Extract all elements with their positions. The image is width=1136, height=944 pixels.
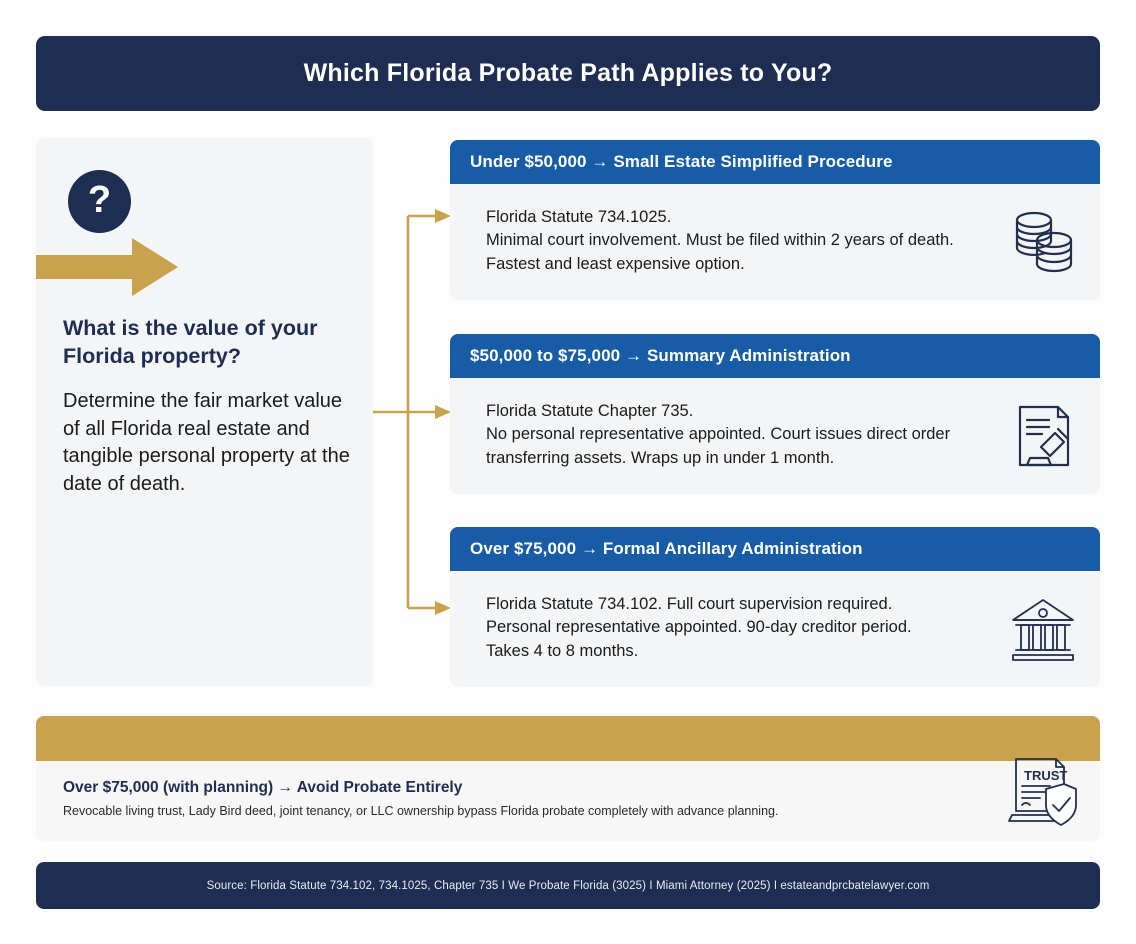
infographic-page: Which Florida Probate Path Applies to Yo… [0, 0, 1136, 944]
path-card-formal-ancillary[interactable]: Over $75,000 → Formal Ancillary Administ… [450, 527, 1100, 687]
card-body-text: Florida Statute 734.102. Full court supe… [486, 593, 990, 663]
card-header: Under $50,000 → Small Estate Simplified … [450, 140, 1100, 184]
connector-lines [373, 138, 453, 686]
card-header-label: $50,000 to $75,000 → Summary Administrat… [470, 346, 851, 366]
page-title: Which Florida Probate Path Applies to Yo… [304, 59, 833, 88]
trust-document-shield-icon: TRUST [1006, 753, 1078, 829]
card-body-text: Florida Statute Chapter 735. No personal… [486, 400, 990, 470]
trust-label: TRUST [1024, 768, 1067, 783]
document-gavel-icon [1008, 401, 1078, 471]
card-body: Florida Statute 734.1025. Minimal court … [450, 184, 1100, 300]
gold-right-arrow-icon [36, 238, 178, 296]
coin-stacks-icon [1008, 207, 1078, 277]
question-mark-circle-icon: ? [68, 170, 131, 233]
panel-body-text: Determine the fair market value of all F… [63, 388, 358, 498]
card-header-label: Under $50,000 → Small Estate Simplified … [470, 152, 893, 172]
footer-bar: Source: Florida Statute 734.102, 734.102… [36, 862, 1100, 909]
footer-source-text: Source: Florida Statute 734.102, 734.102… [207, 880, 930, 892]
avoid-probate-block: Over $75,000 (with planning) → Avoid Pro… [36, 716, 1100, 841]
bottom-content: Over $75,000 (with planning) → Avoid Pro… [36, 761, 1100, 820]
bottom-subtitle: Revocable living trust, Lady Bird deed, … [63, 803, 980, 820]
courthouse-icon [1008, 594, 1078, 664]
card-header: Over $75,000 → Formal Ancillary Administ… [450, 527, 1100, 571]
bottom-title: Over $75,000 (with planning) → Avoid Pro… [63, 779, 980, 797]
panel-heading: What is the value of your Florida proper… [63, 314, 358, 371]
gold-accent-bar [36, 716, 1100, 761]
title-banner: Which Florida Probate Path Applies to Yo… [36, 36, 1100, 111]
question-panel: ? What is the value of your Florida prop… [36, 138, 373, 686]
card-header: $50,000 to $75,000 → Summary Administrat… [450, 334, 1100, 378]
card-header-label: Over $75,000 → Formal Ancillary Administ… [470, 539, 863, 559]
question-mark-glyph: ? [88, 181, 111, 219]
path-card-small-estate[interactable]: Under $50,000 → Small Estate Simplified … [450, 140, 1100, 300]
card-body: Florida Statute Chapter 735. No personal… [450, 378, 1100, 494]
path-card-summary-administration[interactable]: $50,000 to $75,000 → Summary Administrat… [450, 334, 1100, 494]
card-body: Florida Statute 734.102. Full court supe… [450, 571, 1100, 687]
card-body-text: Florida Statute 734.1025. Minimal court … [486, 206, 990, 276]
